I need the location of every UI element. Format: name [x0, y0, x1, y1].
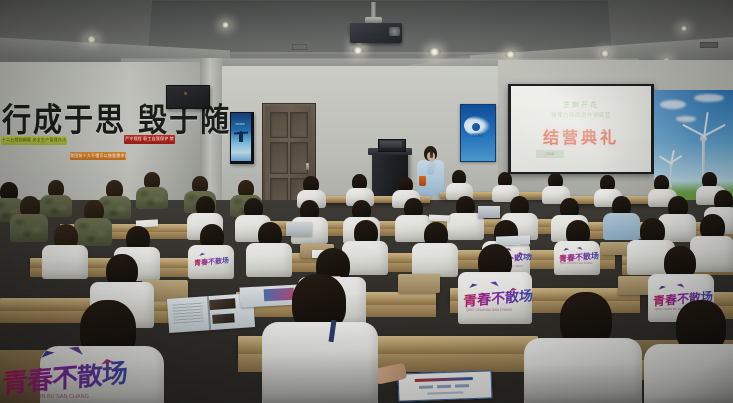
desk-front	[262, 229, 412, 236]
microphone-icon	[430, 150, 433, 158]
person-torso	[188, 245, 234, 279]
person-torso	[246, 243, 292, 277]
slide-badge: 2016	[536, 150, 564, 158]
podium-laptop-screen	[380, 141, 402, 148]
slide-line-1: 芝麻开花	[520, 100, 642, 110]
person-torso	[42, 245, 88, 279]
speaker-led-icon	[184, 92, 187, 95]
fabric-shading	[524, 338, 642, 403]
booklet-graphic	[264, 288, 295, 302]
person-torso-camo	[10, 214, 48, 242]
wall-banner-red: 严守规程 职工自我保护 禁	[124, 135, 175, 144]
downlight	[600, 50, 610, 57]
person-torso	[554, 241, 600, 275]
certificate-band	[415, 377, 473, 382]
desk-paper	[429, 215, 449, 222]
banner-logo-text: 爱爱医疗	[468, 133, 488, 137]
door-panel	[290, 112, 308, 138]
ceiling-vent	[292, 44, 307, 50]
desk-cup	[419, 176, 426, 186]
chair-back	[398, 274, 440, 293]
door-panel	[270, 142, 288, 174]
magazine-text-block	[172, 303, 203, 325]
wall-banner-orange: 我国前十大不懂可以借鉴需求安全经验总结	[70, 152, 126, 160]
person-torso	[603, 213, 640, 240]
banner-logo-icon	[472, 123, 480, 131]
person-torso	[412, 243, 458, 277]
certificate[interactable]	[398, 370, 493, 401]
desk-laptop[interactable]	[478, 206, 500, 218]
desk-laptop[interactable]	[286, 222, 312, 236]
person-torso-camo	[40, 195, 72, 217]
person-torso-camo	[136, 187, 168, 209]
downlight	[352, 47, 364, 54]
magazine-photo	[212, 313, 235, 324]
person-torso-foreground	[40, 346, 164, 403]
ceiling-vent	[700, 42, 718, 48]
wall-poster-caption: WORK · SAFETY	[232, 122, 250, 127]
person-torso-camo	[74, 218, 112, 246]
downlight	[86, 36, 97, 43]
certificate-line	[455, 384, 469, 387]
person-torso	[458, 272, 532, 324]
poster-figure-icon	[239, 131, 243, 142]
wall-banner-green: 十二五规划纲要 安全生产管理办法	[1, 136, 67, 145]
person-torso	[690, 236, 733, 272]
certificate-line	[437, 385, 451, 388]
projector-lens-icon	[389, 27, 400, 36]
certificate-line	[419, 385, 433, 388]
door-panel	[270, 112, 288, 138]
wall-speaker-icon	[166, 85, 210, 109]
certificate-line	[427, 391, 463, 394]
slide-line-2: 领导力持续提升训练营	[516, 111, 646, 119]
downlight	[505, 51, 516, 58]
person-torso-foreground	[644, 344, 733, 403]
downlight	[680, 26, 688, 31]
magazine-photo	[209, 298, 236, 310]
photo-scene: 行成于思 毁于随 十二五规划纲要 安全生产管理办法 我国前十大不懂可以借鉴需求安…	[0, 0, 733, 403]
downlight	[428, 48, 441, 56]
fabric-shading	[262, 322, 378, 403]
chair-back	[600, 242, 630, 255]
wall-calligraphy: 行成于思 毁于随	[2, 94, 188, 134]
downlight	[221, 22, 230, 28]
door-handle[interactable]	[306, 163, 309, 170]
slide-title: 结营典礼	[516, 124, 646, 148]
